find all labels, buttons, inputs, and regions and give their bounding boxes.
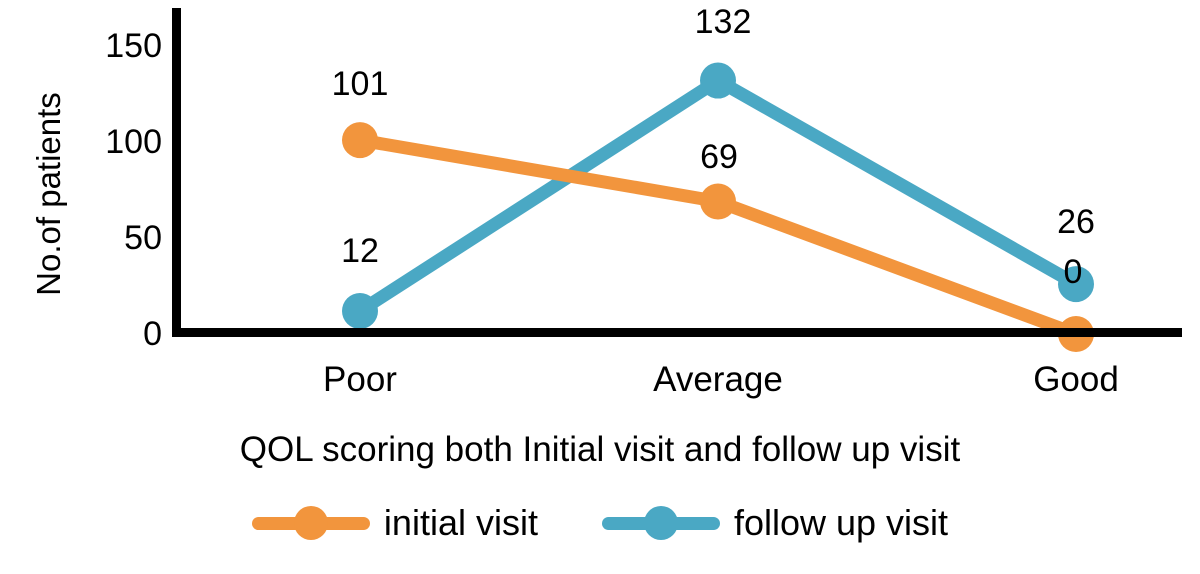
- data-point: [342, 122, 378, 158]
- legend-swatch-initial-visit: [252, 517, 370, 530]
- legend-item-follow-up-visit[interactable]: follow up visit: [602, 505, 948, 541]
- points-follow-up-visit: [342, 63, 1094, 329]
- chart-figure: No.of patients 150 100 50 0 101 69 12 13…: [0, 0, 1200, 574]
- legend-marker-icon: [294, 506, 328, 540]
- legend-label-follow-up-visit: follow up visit: [734, 505, 948, 541]
- data-label-initial-poor: 101: [332, 67, 389, 101]
- series-follow-up-visit: [342, 63, 1094, 329]
- data-point: [700, 63, 736, 99]
- y-axis-title: No.of patients: [30, 44, 68, 344]
- data-label-followup-average: 132: [695, 5, 752, 39]
- chart-legend: initial visit follow up visit: [0, 505, 1200, 541]
- legend-swatch-follow-up-visit: [602, 517, 720, 530]
- data-point: [700, 184, 736, 220]
- x-category-good: Good: [1033, 362, 1119, 397]
- data-label-followup-good: 26: [1057, 205, 1095, 239]
- x-category-poor: Poor: [323, 362, 397, 397]
- data-label-initial-good: 0: [1064, 255, 1083, 289]
- y-tick-label-0: 0: [0, 317, 162, 351]
- y-tick-label-50: 50: [0, 221, 162, 255]
- y-tick-label-150: 150: [0, 29, 162, 63]
- data-label-initial-average: 69: [700, 140, 738, 174]
- x-axis-title: QOL scoring both Initial visit and follo…: [0, 432, 1200, 467]
- y-tick-label-100: 100: [0, 125, 162, 159]
- legend-item-initial-visit[interactable]: initial visit: [252, 505, 538, 541]
- y-axis-spine: [172, 8, 181, 336]
- legend-marker-icon: [644, 506, 678, 540]
- data-point: [342, 293, 378, 329]
- x-axis-spine: [172, 328, 1182, 337]
- legend-label-initial-visit: initial visit: [384, 505, 538, 541]
- line-follow-up-visit: [360, 81, 1076, 311]
- data-label-followup-poor: 12: [341, 234, 379, 268]
- x-category-average: Average: [653, 362, 783, 397]
